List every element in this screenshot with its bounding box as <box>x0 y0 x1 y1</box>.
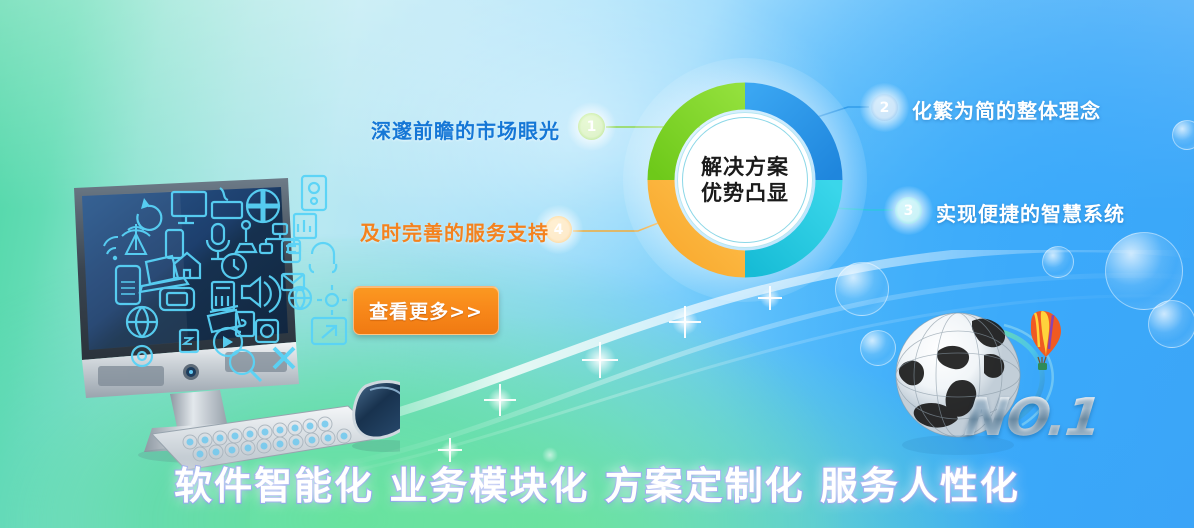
feature-label-1: 深邃前瞻的市场眼光 <box>371 115 560 144</box>
rank-no1-text: NO.1 <box>962 388 1103 448</box>
donut-center-label: 解决方案 优势凸显 <box>701 154 789 207</box>
view-more-button[interactable]: 查看更多>> <box>353 286 499 335</box>
promo-banner: 解决方案 优势凸显 1 2 3 4 深邃前瞻的市场眼光 化繁为简的整体理念 实现… <box>0 0 1194 528</box>
bubble <box>1042 246 1074 278</box>
feature-label-2: 化繁为简的整体理念 <box>912 95 1101 124</box>
feature-badge-3[interactable]: 3 <box>895 197 922 224</box>
bottom-tagline: 软件智能化 业务模块化 方案定制化 服务人性化 <box>0 455 1194 510</box>
feature-label-4: 及时完善的服务支持 <box>360 217 549 246</box>
donut-center: 解决方案 优势凸显 <box>677 112 813 248</box>
feature-badge-1[interactable]: 1 <box>578 113 605 140</box>
donut-label-line-1: 解决方案 <box>701 154 789 180</box>
badge-number: 2 <box>880 100 890 116</box>
feature-badge-4[interactable]: 4 <box>545 216 572 243</box>
feature-label-3: 实现便捷的智慧系统 <box>936 198 1125 227</box>
badge-number: 4 <box>554 222 564 238</box>
feature-badge-2[interactable]: 2 <box>871 94 898 121</box>
bubble <box>1172 120 1194 150</box>
badge-number: 3 <box>904 203 914 219</box>
badge-number: 1 <box>587 119 597 135</box>
bubble <box>1148 300 1194 348</box>
computer-workstation-illustration <box>60 170 400 470</box>
solution-donut-chart: 解决方案 优势凸显 <box>645 80 845 280</box>
donut-label-line-2: 优势凸显 <box>701 180 789 206</box>
bubble <box>1105 232 1183 310</box>
hot-air-balloon <box>1031 311 1061 370</box>
